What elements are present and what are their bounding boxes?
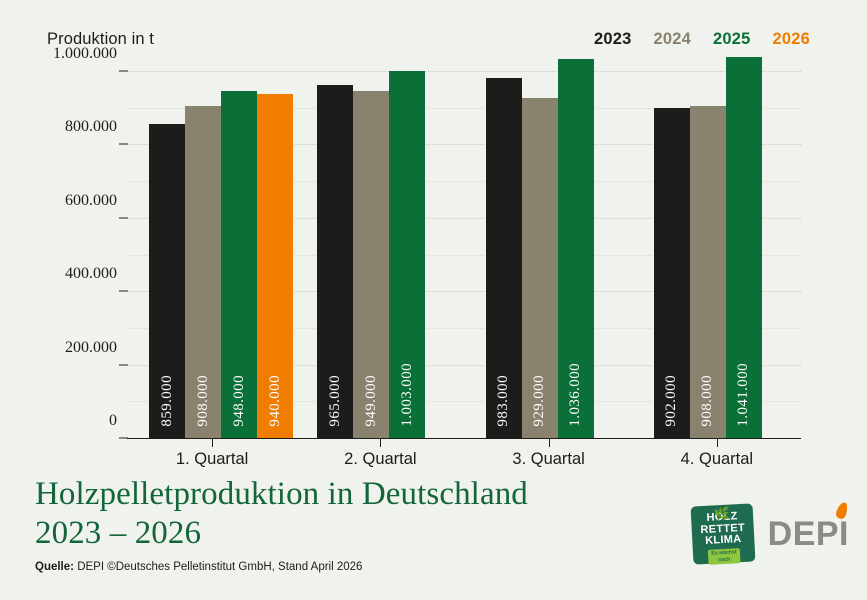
bar-value-label: 965.000 xyxy=(327,375,344,427)
y-tick-mark xyxy=(119,71,128,72)
bar-2023-4[interactable]: 902.000 xyxy=(654,108,690,439)
bar-value-label: 949.000 xyxy=(363,375,380,427)
bar-value-label: 902.000 xyxy=(663,375,680,427)
bar-value-label: 908.000 xyxy=(699,375,716,427)
logo-row: 🌿 HOLZ RETTET KLIMA Es wächst nach DEPI xyxy=(692,505,849,563)
hrk-line-3: KLIMA xyxy=(705,534,742,548)
y-tick-label: 800.000 xyxy=(65,118,128,136)
chart-canvas: Produktion in t 2023202420252026 0200.00… xyxy=(0,0,867,600)
legend-item-2023[interactable]: 2023 xyxy=(594,30,632,49)
bar-value-label: 908.000 xyxy=(195,375,212,427)
bar-value-label: 1.003.000 xyxy=(399,363,416,427)
x-tick-mark xyxy=(717,439,718,447)
bar-group: 859.000908.000948.000940.0001. Quartal xyxy=(128,72,296,439)
bar-2024-4[interactable]: 908.000 xyxy=(690,106,726,439)
page-title: Holzpelletproduktion in Deutschland 2023… xyxy=(35,475,528,554)
source-label: Quelle: xyxy=(35,561,74,573)
title-line-2: 2023 – 2026 xyxy=(35,514,528,553)
bar-group: 983.000929.0001.036.0003. Quartal xyxy=(465,72,633,439)
y-tick-label: 400.000 xyxy=(65,265,128,283)
bar-value-label: 940.000 xyxy=(267,375,284,427)
bar-group: 902.000908.0001.041.0004. Quartal xyxy=(633,72,801,439)
y-tick-mark xyxy=(119,364,128,365)
y-tick-label: 0 xyxy=(109,412,128,430)
legend-item-2024[interactable]: 2024 xyxy=(653,30,691,49)
bar-2025-1[interactable]: 948.000 xyxy=(221,91,257,439)
x-axis-line xyxy=(127,438,801,439)
chart-legend: 2023202420252026 xyxy=(594,30,810,49)
bar-value-label: 929.000 xyxy=(531,375,548,427)
y-tick-mark xyxy=(119,217,128,218)
bar-2025-4[interactable]: 1.041.000 xyxy=(726,57,762,439)
x-tick-mark xyxy=(380,439,381,447)
y-tick-label: 1.000.000 xyxy=(53,45,128,63)
bar-2023-3[interactable]: 983.000 xyxy=(486,78,522,439)
depi-logo: DEPI xyxy=(768,515,849,554)
y-tick-label: 600.000 xyxy=(65,192,128,210)
bar-group: 965.000949.0001.003.0002. Quartal xyxy=(296,72,464,439)
bar-2024-2[interactable]: 949.000 xyxy=(353,91,389,439)
bar-value-label: 1.041.000 xyxy=(735,363,752,427)
bar-2023-2[interactable]: 965.000 xyxy=(317,85,353,439)
bar-2023-1[interactable]: 859.000 xyxy=(149,124,185,439)
bar-2025-3[interactable]: 1.036.000 xyxy=(558,59,594,439)
hrk-subtitle: Es wächst nach xyxy=(708,548,740,565)
y-tick-mark xyxy=(119,291,128,292)
bar-groups: 859.000908.000948.000940.0001. Quartal96… xyxy=(128,72,801,439)
bar-value-label: 948.000 xyxy=(231,375,248,427)
x-tick-mark xyxy=(549,439,550,447)
y-tick-mark xyxy=(119,144,128,145)
leaf-icon: 🌿 xyxy=(713,507,730,521)
title-line-1: Holzpelletproduktion in Deutschland xyxy=(35,475,528,514)
x-tick-label: 1. Quartal xyxy=(128,450,296,469)
bar-2024-1[interactable]: 908.000 xyxy=(185,106,221,439)
bar-value-label: 983.000 xyxy=(495,375,512,427)
bar-value-label: 859.000 xyxy=(159,375,176,427)
bar-2026-1[interactable]: 940.000 xyxy=(257,94,293,439)
x-tick-label: 3. Quartal xyxy=(465,450,633,469)
legend-item-2025[interactable]: 2025 xyxy=(713,30,751,49)
x-tick-mark xyxy=(212,439,213,447)
x-tick-label: 4. Quartal xyxy=(633,450,801,469)
bar-2024-3[interactable]: 929.000 xyxy=(522,98,558,439)
bar-2025-2[interactable]: 1.003.000 xyxy=(389,71,425,439)
x-tick-label: 2. Quartal xyxy=(296,450,464,469)
depi-wordmark: DEPI xyxy=(768,515,849,553)
legend-item-2026[interactable]: 2026 xyxy=(772,30,810,49)
y-tick-label: 200.000 xyxy=(65,339,128,357)
holz-rettet-klima-logo: 🌿 HOLZ RETTET KLIMA Es wächst nach xyxy=(690,503,755,564)
source-note: Quelle: DEPI ©Deutsches Pelletinstitut G… xyxy=(35,561,362,573)
hrk-subtitle-line-2: nach xyxy=(718,556,730,563)
source-value: DEPI ©Deutsches Pelletinstitut GmbH, Sta… xyxy=(77,561,362,573)
plot-area: 0200.000400.000600.000800.0001.000.000 8… xyxy=(128,72,801,439)
bar-value-label: 1.036.000 xyxy=(567,363,584,427)
